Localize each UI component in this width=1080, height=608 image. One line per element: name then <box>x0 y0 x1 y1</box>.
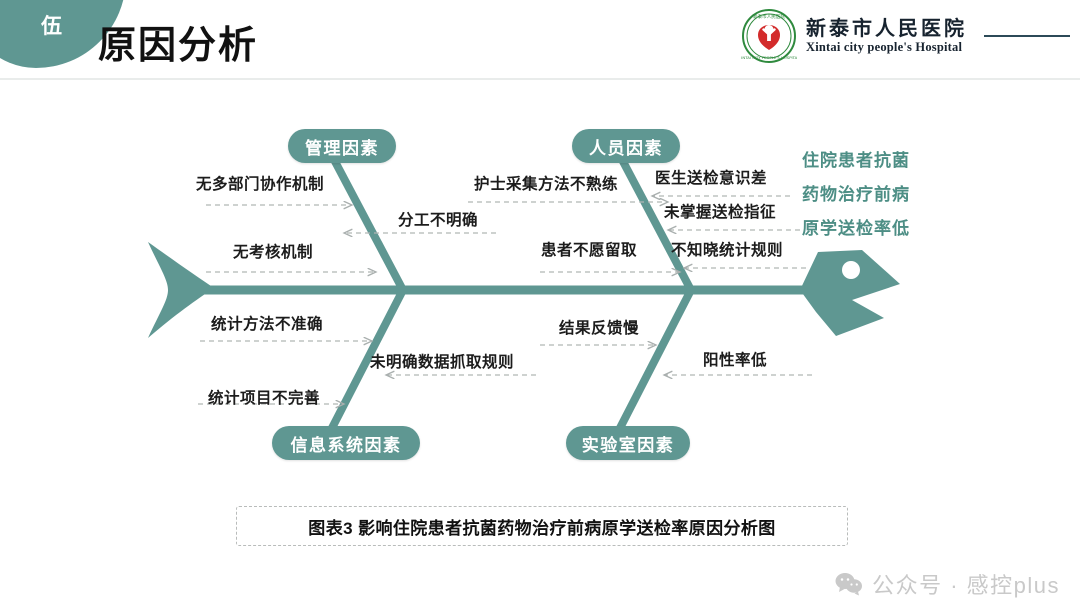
cause-label-undefined-data-capture: 未明确数据抓取规则 <box>370 350 514 372</box>
cause-label-no-multidept-mechanism: 无多部门协作机制 <box>196 172 324 194</box>
cause-label-patient-unwilling: 患者不愿留取 <box>541 238 637 260</box>
fish-eye <box>842 261 860 279</box>
category-pill-laboratory[interactable]: 实验室因素 <box>566 426 690 460</box>
effect-line-3: 原学送检率低 <box>802 216 910 242</box>
cause-label-nurse-collection-unskilled: 护士采集方法不熟练 <box>474 172 618 194</box>
bone-laboratory <box>620 288 692 428</box>
watermark: 公众号 · 感控plus <box>835 568 1060 600</box>
cause-label-unclear-division: 分工不明确 <box>398 208 478 230</box>
cause-label-unaware-statistics-rules: 不知晓统计规则 <box>671 238 783 260</box>
cause-label-no-assessment-mechanism: 无考核机制 <box>233 240 313 262</box>
category-pill-information-system[interactable]: 信息系统因素 <box>272 426 420 460</box>
cause-label-incomplete-statistic-items: 统计项目不完善 <box>208 386 320 408</box>
category-pill-management[interactable]: 管理因素 <box>288 129 396 163</box>
wechat-icon <box>835 572 863 596</box>
cause-label-no-indication-knowledge: 未掌握送检指征 <box>664 200 776 222</box>
cause-label-slow-result-feedback: 结果反馈慢 <box>559 316 639 338</box>
figure-caption: 图表3 影响住院患者抗菌药物治疗前病原学送检率原因分析图 <box>236 506 848 546</box>
bone-management <box>330 152 404 292</box>
slide-canvas: 伍 原因分析 新泰市人民医院 XINTAI CITY PEOPLE'S HOSP… <box>0 0 1080 608</box>
effect-line-1: 住院患者抗菌 <box>802 148 910 174</box>
cause-label-low-positive-rate: 阳性率低 <box>703 348 767 370</box>
cause-label-inaccurate-statistics: 统计方法不准确 <box>211 312 323 334</box>
category-pill-people[interactable]: 人员因素 <box>572 129 680 163</box>
cause-label-doctor-awareness-poor: 医生送检意识差 <box>655 166 767 188</box>
watermark-text: 公众号 · 感控plus <box>872 568 1060 600</box>
effect-line-2: 药物治疗前病 <box>802 182 910 208</box>
